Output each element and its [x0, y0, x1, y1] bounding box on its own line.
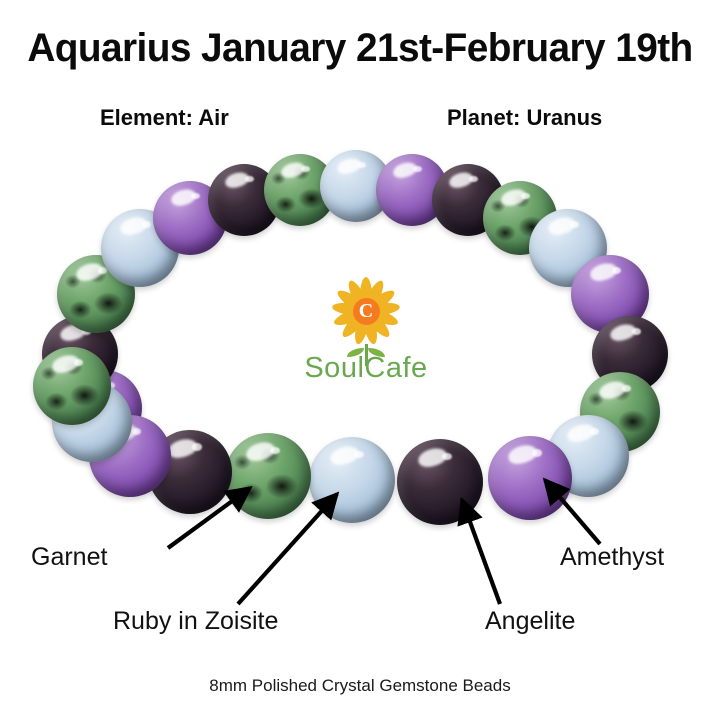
bead-highlight-small	[357, 162, 366, 168]
product-image-canvas: Aquarius January 21st-February 19th Elem…	[0, 0, 720, 720]
bead-highlight-small	[301, 166, 310, 172]
planet-label: Planet: Uranus	[447, 105, 602, 131]
bead-amethyst	[488, 436, 572, 520]
soulcafe-logo: C SoulCafe	[296, 272, 436, 400]
logo-monogram: C	[353, 298, 380, 325]
bead-highlight-small	[192, 443, 202, 451]
bead-highlight-small	[532, 449, 542, 457]
bead-highlight-small	[632, 328, 641, 335]
bead-highlight-small	[622, 385, 632, 392]
bead-highlight-small	[245, 176, 254, 182]
callout-zoisite: Ruby in Zoisite	[113, 607, 278, 636]
bead-angelite	[309, 437, 395, 523]
bead-highlight-small	[469, 176, 478, 182]
element-label: Element: Air	[100, 105, 229, 131]
callout-angelite: Angelite	[485, 607, 575, 636]
product-footer-note: 8mm Polished Crystal Gemstone Beads	[0, 676, 720, 696]
sunflower-icon: C	[323, 274, 409, 348]
bead-zoisite	[33, 347, 111, 425]
callout-garnet: Garnet	[31, 543, 107, 572]
page-title: Aquarius January 21st-February 19th	[11, 26, 709, 71]
bead-garnet	[397, 439, 483, 525]
bead-zoisite	[225, 433, 311, 519]
bead-highlight-small	[413, 166, 422, 172]
callout-amethyst: Amethyst	[560, 543, 664, 572]
